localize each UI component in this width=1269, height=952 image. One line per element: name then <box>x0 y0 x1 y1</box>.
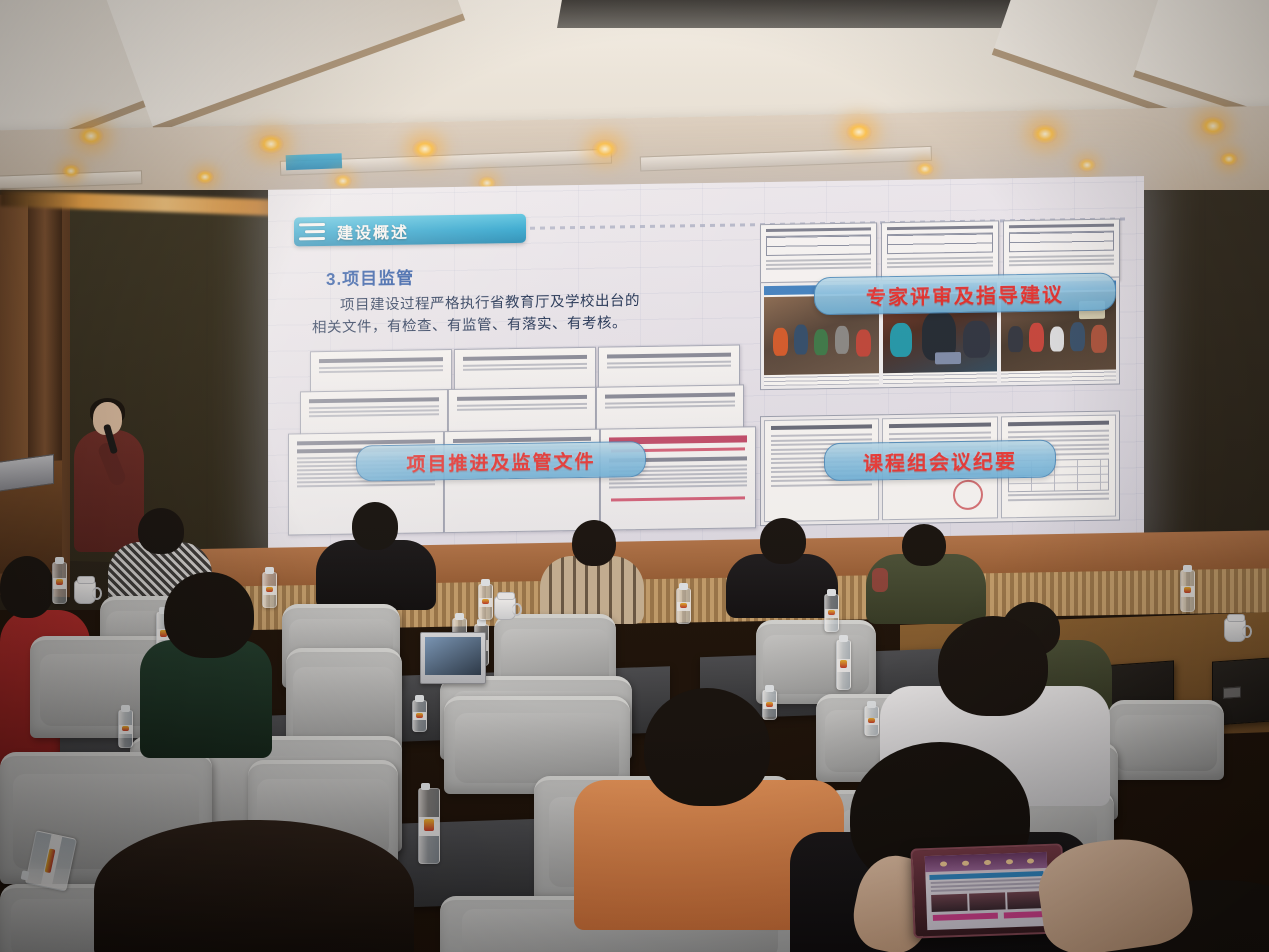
slide-section-title: 3.项目监管 <box>326 264 414 290</box>
slide-header-pill: 建设概述 <box>294 214 526 247</box>
person-head <box>138 508 184 554</box>
slide-header-label: 建设概述 <box>337 218 409 243</box>
phone-preview-photos <box>931 892 1043 912</box>
water-bottle <box>478 584 493 620</box>
person-head <box>352 502 398 550</box>
water-bottle <box>676 588 691 624</box>
slide-body-line-1: 项目建设过程严格执行省教育厅及学校出台的 <box>312 289 732 318</box>
water-bottle <box>1180 570 1195 612</box>
callout-expert-review: 专家评审及指导建议 <box>814 273 1116 316</box>
conference-photo-scene: 建设概述 3.项目监管 项目建设过程严格执行省教育厅及学校出台的 相关文件，有检… <box>0 0 1269 952</box>
tea-mug <box>1224 618 1246 642</box>
ceiling-spotlight <box>62 164 80 178</box>
ceiling-spotlight <box>592 139 618 159</box>
ceiling <box>0 0 1269 200</box>
phone-preview-callouts <box>933 911 1043 921</box>
audience-member <box>140 572 272 752</box>
ceiling-spotlight <box>1220 152 1238 166</box>
ceiling-light-slot <box>640 146 932 172</box>
person-head <box>572 520 616 566</box>
audience-member <box>866 524 986 622</box>
person-head <box>164 572 254 658</box>
callout-label: 项目推进及监管文件 <box>406 446 595 476</box>
photo-caption-text <box>764 373 879 386</box>
person-torso <box>316 540 436 610</box>
photo-caption-text <box>883 371 998 384</box>
bracket-lines-icon <box>299 221 329 241</box>
audience-chair <box>1108 700 1224 780</box>
phone-screen[interactable] <box>925 852 1050 930</box>
slide-body-line-2: 相关文件，有检查、有监管、有落实、有考核。 <box>312 316 627 337</box>
phone-preview-ceiling <box>925 852 1047 873</box>
callout-label: 课程组会议纪要 <box>863 445 1017 476</box>
person-head <box>0 556 54 618</box>
tea-mug <box>74 580 96 604</box>
audience-member <box>540 520 644 620</box>
photo-caption-text <box>1001 370 1116 383</box>
person-head <box>902 524 946 566</box>
ceiling-spotlight <box>78 126 104 146</box>
audience-member <box>726 518 838 614</box>
ceiling-spotlight <box>1078 158 1096 172</box>
ceiling-spotlight <box>1032 124 1058 144</box>
person-head <box>94 820 414 952</box>
callout-meeting-minutes: 课程组会议纪要 <box>824 440 1056 482</box>
water-bottle <box>118 710 133 748</box>
water-bottle <box>836 640 851 690</box>
ceiling-spotlight <box>846 122 872 142</box>
water-bottle <box>418 788 440 864</box>
ceiling-spotlight <box>916 162 934 176</box>
water-bottle <box>412 700 427 732</box>
callout-label: 专家评审及指导建议 <box>866 278 1064 310</box>
ceiling-panel <box>105 0 465 133</box>
person-head <box>938 616 1048 716</box>
person-head <box>760 518 806 564</box>
audience-laptop <box>420 632 486 684</box>
audience-member <box>94 820 414 952</box>
ceiling-spotlight <box>258 134 284 154</box>
callout-project-docs: 项目推进及监管文件 <box>356 441 646 482</box>
water-bottle <box>824 594 839 632</box>
audience-member <box>316 502 436 606</box>
ceiling-spotlight <box>334 174 352 188</box>
water-bottle <box>52 562 67 604</box>
ceiling-spotlight <box>412 139 438 159</box>
ceiling-spotlight <box>1200 116 1226 136</box>
ceiling-spotlight <box>196 170 214 184</box>
jacket-embroidery <box>872 568 888 592</box>
slide-body-text: 项目建设过程严格执行省教育厅及学校出台的 相关文件，有检查、有监管、有落实、有考… <box>312 289 732 341</box>
official-seal-icon <box>953 480 983 510</box>
person-head <box>644 688 770 806</box>
water-bottle <box>864 706 879 736</box>
ceiling-blue-sign <box>286 153 343 170</box>
tea-mug <box>494 596 516 620</box>
